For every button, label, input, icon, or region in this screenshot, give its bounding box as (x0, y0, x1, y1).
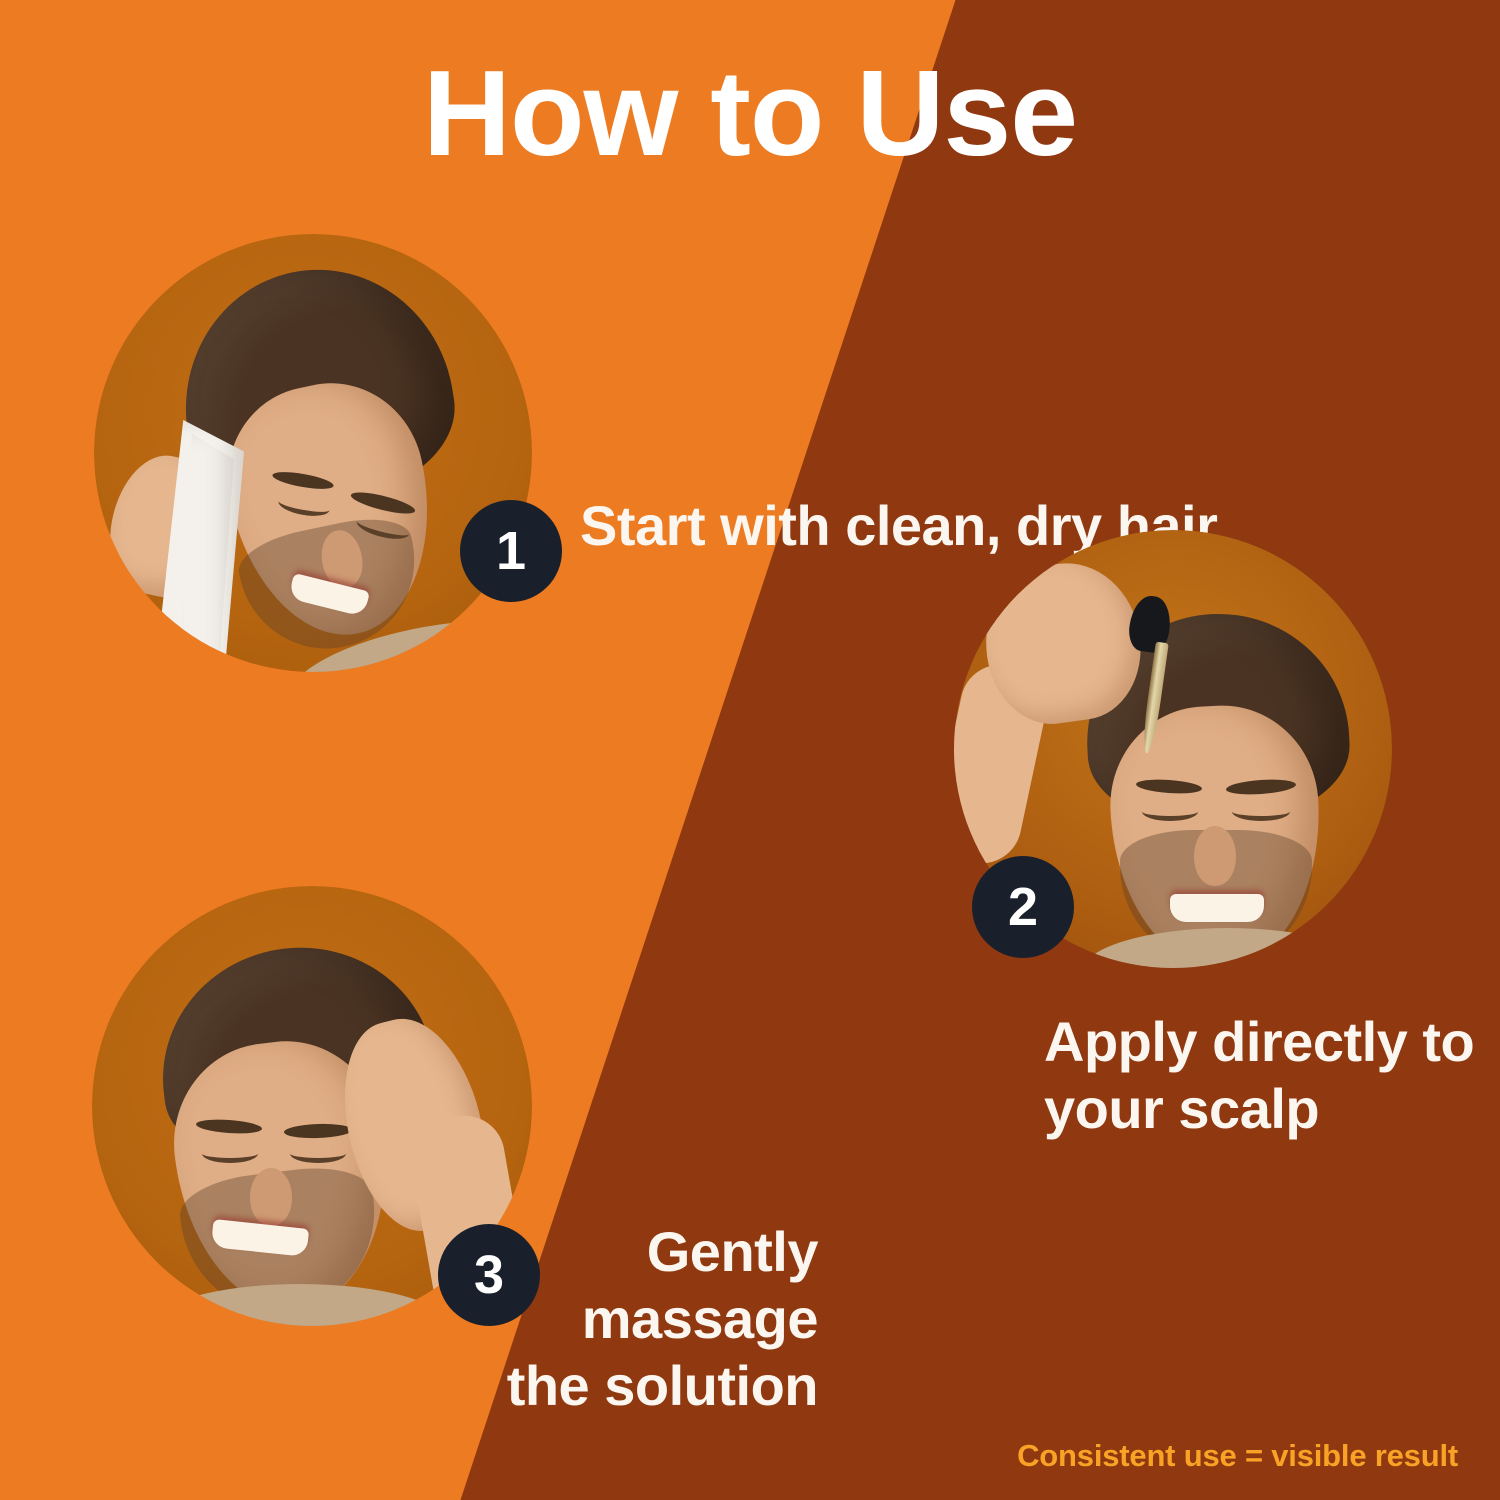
eye-left (1142, 802, 1198, 821)
step-1-photo (94, 234, 532, 672)
step-1-badge: 1 (460, 500, 562, 602)
step-1-caption-line-1: Start with (580, 494, 830, 557)
nose-shape (1194, 826, 1236, 886)
step-2-caption-line-1: Apply directly (1044, 1010, 1407, 1073)
step-1-photo-backdrop (94, 234, 532, 672)
step-2-number: 2 (1008, 876, 1038, 938)
step-2-badge: 2 (972, 856, 1074, 958)
step-1-number: 1 (496, 520, 526, 582)
step-1-figure (94, 234, 532, 672)
step-2-caption: Apply directly to your scalp (1044, 1008, 1500, 1142)
step-3-caption-line-1: Gently (198, 1218, 818, 1285)
page-title: How to Use (0, 52, 1500, 174)
smile-shape (1170, 894, 1264, 922)
footer-note: Consistent use = visible result (1017, 1438, 1458, 1474)
step-3-caption: Gently massage the solution (198, 1218, 818, 1420)
step-3-caption-line-3: the solution (198, 1352, 818, 1419)
eye-right (290, 1144, 346, 1163)
eye-left (202, 1144, 258, 1163)
how-to-use-infographic: How to Use (0, 0, 1500, 1500)
eye-right (1232, 802, 1290, 821)
shirt-shape (1082, 928, 1374, 968)
step-3-caption-line-2: massage (198, 1285, 818, 1352)
